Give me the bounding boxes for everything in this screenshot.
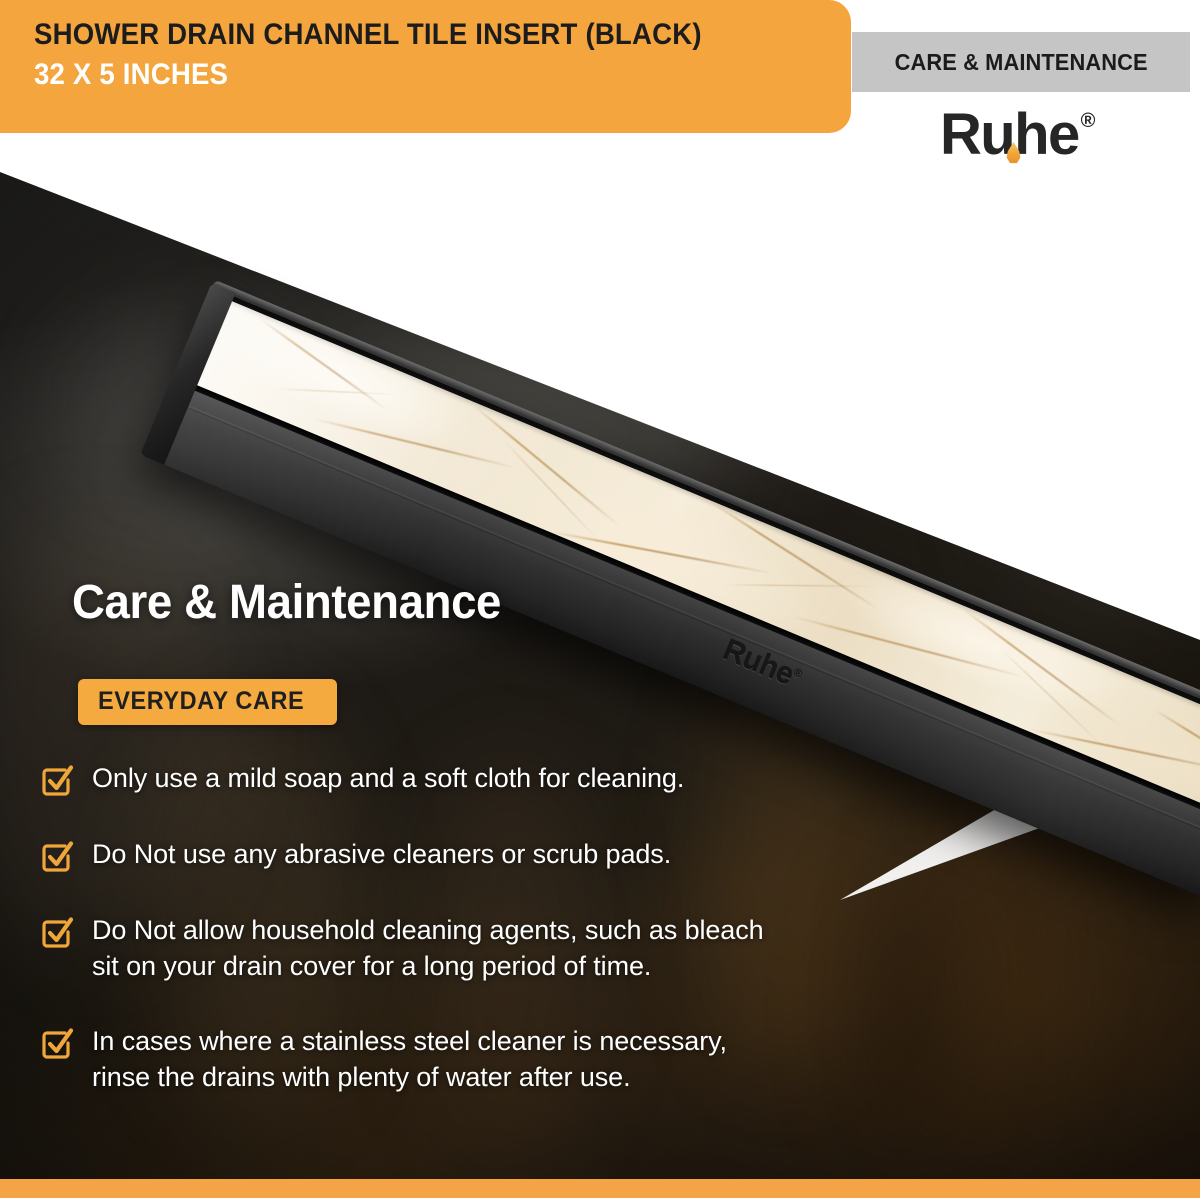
list-item: In cases where a stainless steel cleaner… bbox=[40, 1023, 1130, 1096]
checkbox-checked-icon bbox=[40, 840, 74, 874]
care-instruction-line1: Do Not use any abrasive cleaners or scru… bbox=[92, 839, 671, 869]
care-instruction-text: Do Not use any abrasive cleaners or scru… bbox=[92, 836, 671, 872]
list-item: Do Not use any abrasive cleaners or scru… bbox=[40, 836, 1130, 874]
product-title-banner: SHOWER DRAIN CHANNEL TILE INSERT (BLACK)… bbox=[0, 0, 851, 133]
care-instruction-line2: sit on your drain cover for a long perio… bbox=[92, 948, 764, 984]
everyday-care-badge: EVERYDAY CARE bbox=[78, 679, 337, 725]
everyday-care-badge-label: EVERYDAY CARE bbox=[98, 687, 304, 716]
care-instruction-line1: Do Not allow household cleaning agents, … bbox=[92, 915, 764, 945]
list-item: Do Not allow household cleaning agents, … bbox=[40, 912, 1130, 985]
brand-registered-mark: ® bbox=[1081, 110, 1096, 133]
page-title: Care & Maintenance bbox=[72, 575, 501, 630]
brand-wordmark: Ruhe bbox=[940, 106, 1079, 164]
product-size-line: 32 X 5 INCHES bbox=[34, 56, 786, 94]
list-item: Only use a mild soap and a soft cloth fo… bbox=[40, 760, 1130, 798]
care-instruction-line1: In cases where a stainless steel cleaner… bbox=[92, 1026, 727, 1056]
care-maintenance-band: CARE & MAINTENANCE bbox=[852, 32, 1190, 92]
checkbox-checked-icon bbox=[40, 916, 74, 950]
care-content-section: Care & Maintenance EVERYDAY CARE Only us… bbox=[0, 0, 1200, 1198]
care-instruction-list: Only use a mild soap and a soft cloth fo… bbox=[40, 760, 1130, 1096]
checkbox-checked-icon bbox=[40, 764, 74, 798]
checkbox-checked-icon bbox=[40, 1027, 74, 1061]
product-title-line1: SHOWER DRAIN CHANNEL TILE INSERT (BLACK) bbox=[34, 17, 786, 52]
care-instruction-line2: rinse the drains with plenty of water af… bbox=[92, 1059, 727, 1095]
brand-logo: Ruhe ® bbox=[940, 106, 1095, 164]
care-instruction-text: Do Not allow household cleaning agents, … bbox=[92, 912, 764, 985]
care-instruction-text: In cases where a stainless steel cleaner… bbox=[92, 1023, 727, 1096]
care-instruction-text: Only use a mild soap and a soft cloth fo… bbox=[92, 760, 684, 796]
care-maintenance-band-label: CARE & MAINTENANCE bbox=[895, 49, 1148, 76]
bottom-accent-strip bbox=[0, 1179, 1200, 1198]
care-instruction-line1: Only use a mild soap and a soft cloth fo… bbox=[92, 763, 684, 793]
